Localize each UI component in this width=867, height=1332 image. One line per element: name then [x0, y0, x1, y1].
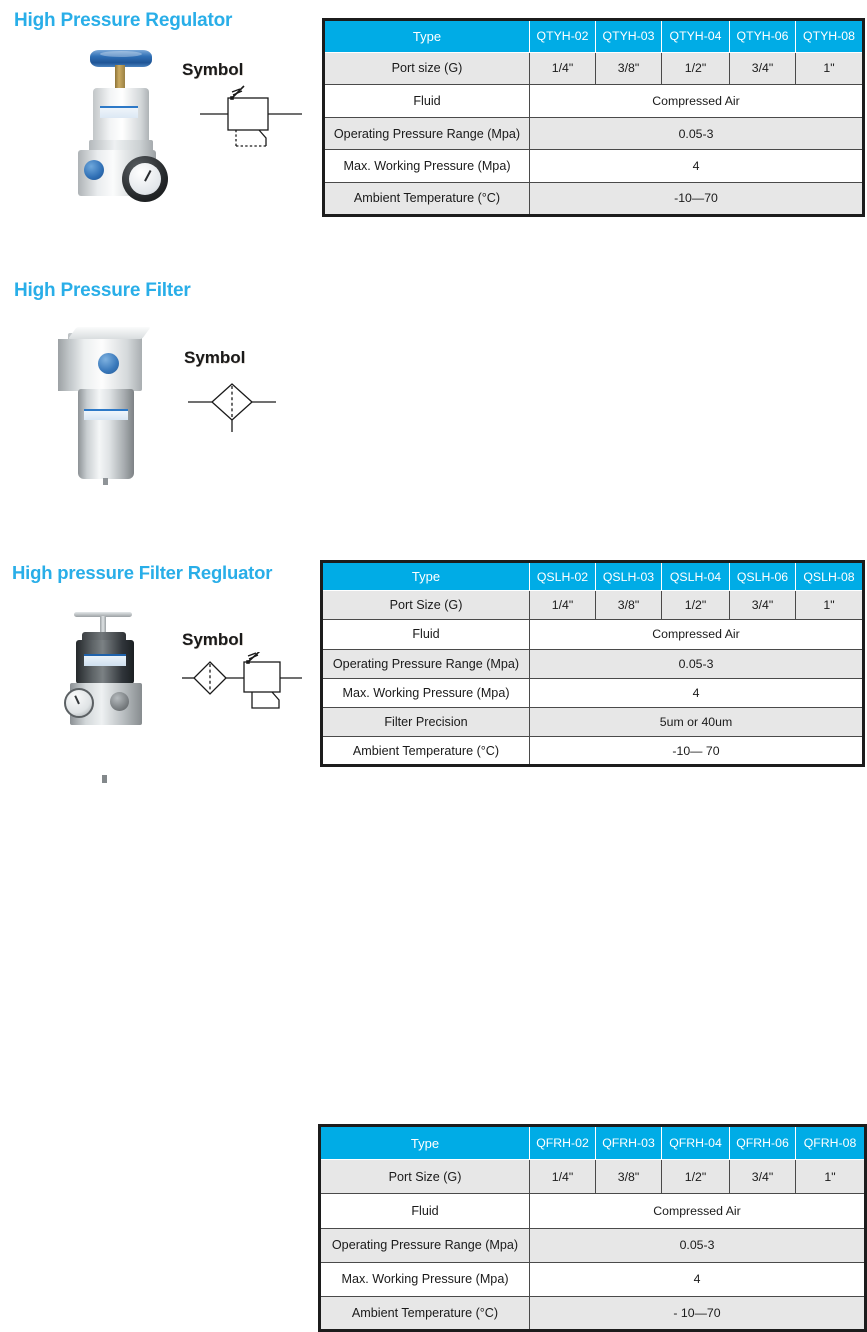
- header-cell-model-04: QTYH-04: [662, 20, 730, 53]
- row-label: Port Size (G): [320, 1160, 530, 1194]
- table-row: Port Size (G) 1/4" 3/8" 1/2" 3/4" 1": [320, 1160, 866, 1194]
- section-2-left-column: High Pressure Filter Symbol: [0, 270, 318, 525]
- filter-regulator-drain: [102, 775, 107, 783]
- section-title: High Pressure Filter: [14, 280, 191, 302]
- cell-value-merged: 0.05-3: [530, 117, 864, 150]
- symbol-label: Symbol: [182, 60, 243, 80]
- table-row: Ambient Temperature (°C) -10—70: [324, 182, 864, 215]
- row-label: Fluid: [324, 85, 530, 118]
- cell-value-merged: 4: [530, 1262, 866, 1296]
- row-label: Operating Pressure Range (Mpa): [320, 1228, 530, 1262]
- table-row: Fluid Compressed Air: [324, 85, 864, 118]
- table-row: Max. Working Pressure (Mpa) 4: [324, 150, 864, 183]
- header-cell-model-03: QTYH-03: [596, 20, 662, 53]
- table-row: Max. Working Pressure (Mpa) 4: [320, 1262, 866, 1296]
- row-label: Port size (G): [324, 52, 530, 85]
- row-label: Max. Working Pressure (Mpa): [320, 1262, 530, 1296]
- table-row: Operating Pressure Range (Mpa) 0.05-3: [324, 117, 864, 150]
- regulator-spec-table: Type QTYH-02 QTYH-03 QTYH-04 QTYH-06 QTY…: [322, 18, 865, 217]
- filter-regulator-port: [110, 692, 129, 711]
- high-pressure-regulator-photo: [60, 48, 185, 200]
- filter-regulator-pressure-gauge: [64, 688, 94, 718]
- header-cell-model-06: QFRH-06: [730, 1126, 796, 1160]
- cell-value: 3/8": [596, 1160, 662, 1194]
- filter-regulator-spec-table: Type QFRH-02 QFRH-03 QFRH-04 QFRH-06 QFR…: [318, 1124, 867, 1332]
- filter-head-top: [68, 327, 151, 339]
- pressure-regulator-symbol: [196, 82, 308, 152]
- cell-value: 3/8": [596, 52, 662, 85]
- cell-value: 1/4": [530, 1160, 596, 1194]
- header-cell-type: Type: [324, 20, 530, 53]
- header-cell-model-06: QTYH-06: [730, 20, 796, 53]
- row-label: Max. Working Pressure (Mpa): [324, 150, 530, 183]
- header-cell-model-04: QFRH-04: [662, 1126, 730, 1160]
- cell-value-merged: 0.05-3: [530, 1228, 866, 1262]
- table-row: Fluid Compressed Air: [320, 1194, 866, 1228]
- filter-inlet-port: [98, 353, 119, 374]
- table-header-row: Type QFRH-02 QFRH-03 QFRH-04 QFRH-06 QFR…: [320, 1126, 866, 1160]
- filter-drain: [103, 478, 108, 485]
- section-title: High Pressure Regulator: [14, 10, 232, 32]
- symbol-label: Symbol: [182, 630, 243, 650]
- cell-value: 1/2": [662, 1160, 730, 1194]
- filter-regulator-symbol: [182, 652, 306, 730]
- high-pressure-filter-photo: [58, 325, 158, 490]
- filter-brand-label: [84, 409, 128, 420]
- symbol-label: Symbol: [184, 348, 245, 368]
- section-1-left-column: High Pressure Regulator Symbol: [0, 0, 318, 262]
- header-cell-type: Type: [320, 1126, 530, 1160]
- row-label: Fluid: [320, 1194, 530, 1228]
- cell-value-merged: Compressed Air: [530, 1194, 866, 1228]
- row-label: Ambient Temperature (°C): [324, 182, 530, 215]
- cell-value: 3/4": [730, 52, 796, 85]
- section-title: High pressure Filter Regluator: [12, 562, 272, 584]
- regulator-pressure-gauge: [122, 156, 168, 202]
- table-row: Port size (G) 1/4" 3/8" 1/2" 3/4" 1": [324, 52, 864, 85]
- cell-value: 1/4": [530, 52, 596, 85]
- table-header-row: Type QTYH-02 QTYH-03 QTYH-04 QTYH-06 QTY…: [324, 20, 864, 53]
- header-cell-model-08: QFRH-08: [796, 1126, 866, 1160]
- filter-regulator-bowl: [78, 724, 132, 776]
- header-cell-model-02: QFRH-02: [530, 1126, 596, 1160]
- cell-value-merged: -10—70: [530, 182, 864, 215]
- cell-value-merged: - 10—70: [530, 1296, 866, 1330]
- cell-value: 1/2": [662, 52, 730, 85]
- regulator-inlet-port: [84, 160, 104, 180]
- filter-metal-bowl: [78, 389, 134, 479]
- gauge-needle: [144, 170, 151, 181]
- filter-regulator-brand-label: [84, 654, 126, 666]
- section-high-pressure-filter-regulator: High pressure Filter Regluator Symbol: [0, 552, 867, 790]
- header-cell-model-08: QTYH-08: [796, 20, 864, 53]
- table-row: Operating Pressure Range (Mpa) 0.05-3: [320, 1228, 866, 1262]
- row-label: Operating Pressure Range (Mpa): [324, 117, 530, 150]
- gauge-dial-face: [129, 163, 161, 195]
- row-label: Ambient Temperature (°C): [320, 1296, 530, 1330]
- regulator-brand-label: [100, 106, 138, 118]
- cell-value-merged: 4: [530, 150, 864, 183]
- high-pressure-filter-regulator-photo: [52, 604, 162, 784]
- section-high-pressure-regulator: High Pressure Regulator Symbol: [0, 0, 867, 262]
- header-cell-model-02: QTYH-02: [530, 20, 596, 53]
- section-high-pressure-filter: High Pressure Filter Symbol: [0, 270, 867, 525]
- filter-symbol: [186, 372, 278, 434]
- cell-value: 1": [796, 1160, 866, 1194]
- cell-value-merged: Compressed Air: [530, 85, 864, 118]
- cell-value: 3/4": [730, 1160, 796, 1194]
- header-cell-model-03: QFRH-03: [596, 1126, 662, 1160]
- filter-head-side: [58, 339, 70, 391]
- cell-value: 1": [796, 52, 864, 85]
- table-row: Ambient Temperature (°C) - 10—70: [320, 1296, 866, 1330]
- section-3-left-column: High pressure Filter Regluator Symbol: [0, 552, 318, 790]
